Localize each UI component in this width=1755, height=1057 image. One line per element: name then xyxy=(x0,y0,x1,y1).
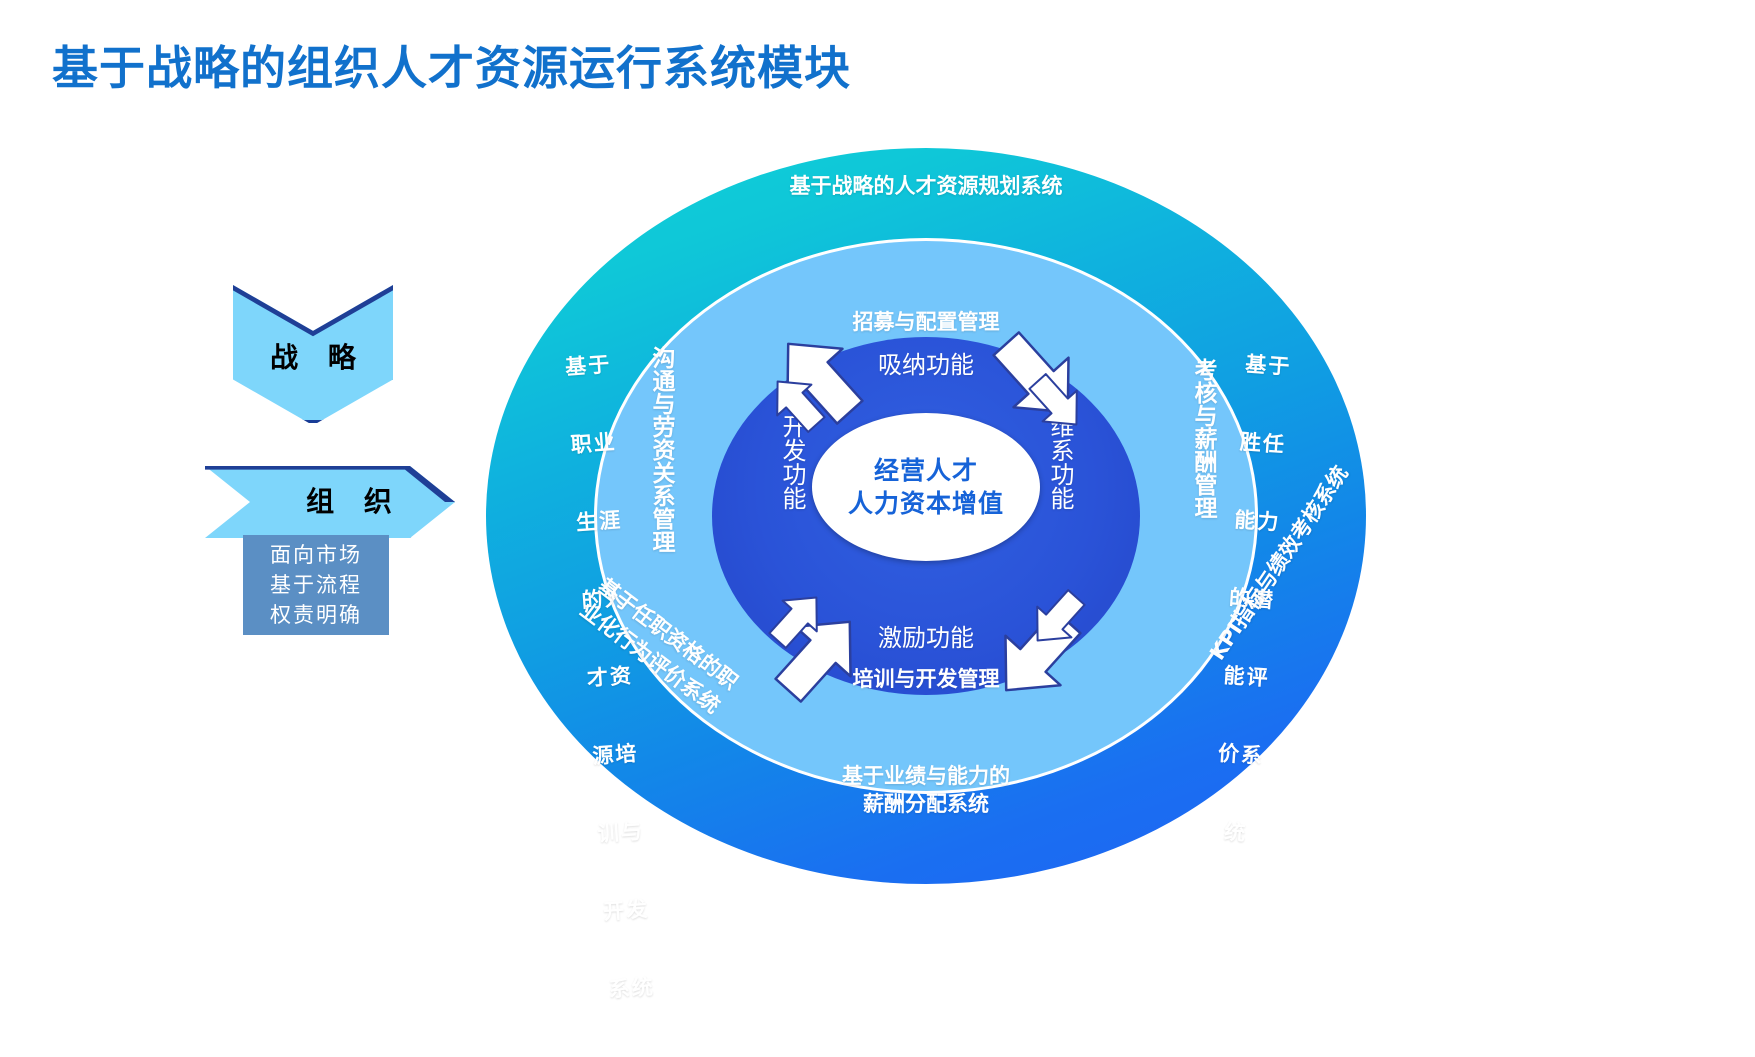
outer-left-col: 系统 xyxy=(571,971,693,1005)
outer-right-col: 胜任 xyxy=(1202,426,1324,460)
mid-label-bottom: 培训与开发管理 xyxy=(594,663,1258,693)
outer-label-top: 基于战略的人才资源规划系统 xyxy=(486,170,1366,200)
core-line-1: 经营人才 xyxy=(874,454,978,487)
outer-left-col: 训与 xyxy=(560,815,682,849)
mid-label-top: 招募与配置管理 xyxy=(594,306,1258,336)
outer-right-col: 统 xyxy=(1175,815,1297,849)
strategy-label: 战 略 xyxy=(233,336,393,376)
outer-left-col: 开发 xyxy=(566,893,688,927)
org-attribute-item: 基于流程 xyxy=(270,570,362,600)
page-title: 基于战略的组织人才资源运行系统模块 xyxy=(52,32,851,98)
org-attribute-item: 面向市场 xyxy=(270,540,362,570)
core-text: 经营人才 人力资本增值 xyxy=(812,413,1040,561)
org-attribute-item: 权责明确 xyxy=(270,600,362,630)
mid-label-left: 沟通与劳资关系管理 xyxy=(636,346,676,553)
organization-label: 组 织 xyxy=(205,480,455,520)
hr-system-concentric-diagram: 经营人才 人力资本增值 基于战略的人才资源规划系统 基于 职业 生涯 的人 才资… xyxy=(486,148,1366,884)
organization-attributes-box: 面向市场 基于流程 权责明确 xyxy=(243,535,389,635)
outer-label-bottom: 基于业绩与能力的 薪酬分配系统 xyxy=(486,762,1366,818)
mid-label-right: 考核与薪酬管理 xyxy=(1178,358,1218,519)
outer-left-col: 基于 xyxy=(527,349,649,383)
core-line-2: 人力资本增值 xyxy=(848,487,1004,520)
outer-right-col: 基于 xyxy=(1208,348,1330,382)
core-ellipse[interactable]: 经营人才 人力资本增值 xyxy=(812,413,1040,561)
left-panel: 战 略 组 织 面向市场 基于流程 权责明确 xyxy=(195,270,495,690)
